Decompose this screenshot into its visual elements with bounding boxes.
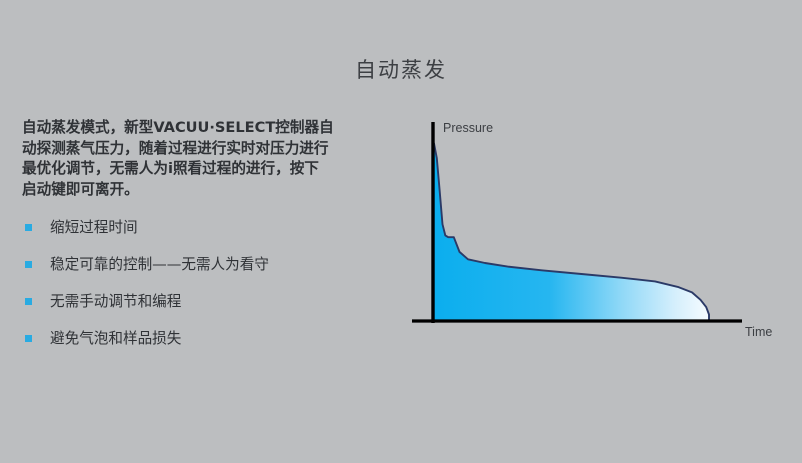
list-item-label: 避免气泡和样品损失 <box>50 330 181 347</box>
list-item: 无需手动调节和编程 <box>22 293 402 311</box>
list-item-label: 稳定可靠的控制——无需人为看守 <box>50 256 269 273</box>
bullet-square-icon <box>25 335 32 342</box>
paragraph-line: 自动蒸发模式，新型VACUU·SELECT控制器自 <box>22 118 402 139</box>
paragraph-line: 启动键即可离开。 <box>22 180 402 201</box>
page-title: 自动蒸发 <box>0 54 802 84</box>
list-item-label: 无需手动调节和编程 <box>50 293 181 310</box>
bullet-square-icon <box>25 261 32 268</box>
body-paragraph: 自动蒸发模式，新型VACUU·SELECT控制器自 动探测蒸气压力，随着过程进行… <box>22 118 402 200</box>
slide-canvas: 自动蒸发 自动蒸发模式，新型VACUU·SELECT控制器自 动探测蒸气压力，随… <box>0 0 802 463</box>
list-item: 稳定可靠的控制——无需人为看守 <box>22 256 402 274</box>
paragraph-line: 最优化调节，无需人为i照看过程的进行，按下 <box>22 159 402 180</box>
chart-plot-area <box>400 110 800 355</box>
y-axis-label: Pressure <box>443 121 493 135</box>
list-item: 避免气泡和样品损失 <box>22 330 402 348</box>
paragraph-line: 动探测蒸气压力，随着过程进行实时对压力进行 <box>22 139 402 160</box>
text-column: 自动蒸发模式，新型VACUU·SELECT控制器自 动探测蒸气压力，随着过程进行… <box>22 118 402 200</box>
bullet-square-icon <box>25 298 32 305</box>
bullet-list: 缩短过程时间 稳定可靠的控制——无需人为看守 无需手动调节和编程 避免气泡和样品… <box>22 219 402 367</box>
list-item: 缩短过程时间 <box>22 219 402 237</box>
bullet-square-icon <box>25 224 32 231</box>
x-axis-label: Time <box>745 325 772 339</box>
list-item-label: 缩短过程时间 <box>50 219 138 236</box>
pressure-area-fill <box>434 143 709 320</box>
pressure-time-chart: Pressure Time <box>400 110 800 355</box>
